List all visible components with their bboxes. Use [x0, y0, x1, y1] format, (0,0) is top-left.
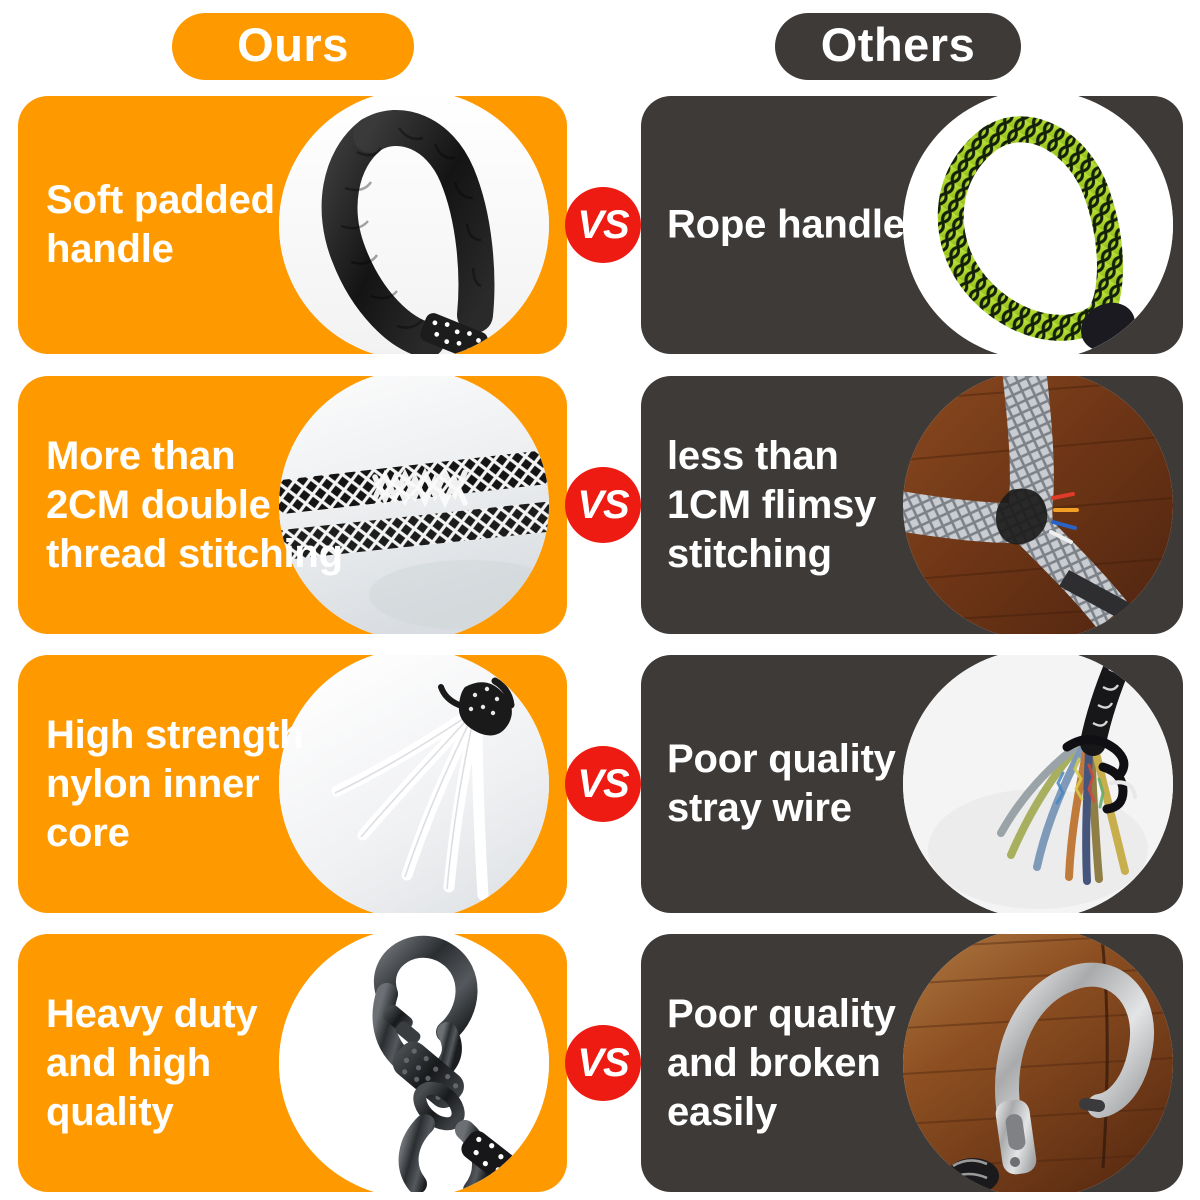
comparison-row: Heavy duty and high quality: [0, 934, 1200, 1192]
header-label-ours: Ours: [237, 21, 349, 68]
header-row: Ours Others: [0, 0, 1200, 92]
others-card-3: Poor quality stray wire: [641, 655, 1183, 913]
comparison-row: Soft padded handle: [0, 96, 1200, 354]
others-card-label-4: Poor quality and broken easily: [667, 990, 937, 1136]
comparison-infographic: Ours Others Soft padded handle: [0, 0, 1200, 1200]
vs-label: VS: [577, 203, 628, 248]
others-card-label-2: less than 1CM flimsy stitching: [667, 432, 937, 578]
ours-card-label-2: More than 2CM double thread stitching: [46, 432, 351, 578]
vs-badge-1: VS: [565, 187, 641, 263]
header-label-others: Others: [821, 21, 976, 68]
header-pill-others: Others: [775, 13, 1021, 80]
ours-card-label-1: Soft padded handle: [46, 176, 351, 274]
flimsy-stitching-photo: [903, 376, 1173, 634]
header-pill-ours: Ours: [172, 13, 414, 80]
ours-card-label-3: High strength nylon inner core: [46, 711, 351, 857]
ours-card-1: Soft padded handle: [18, 96, 567, 354]
ours-card-label-4: Heavy duty and high quality: [46, 990, 351, 1136]
ours-card-2: More than 2CM double thread stitching: [18, 376, 567, 634]
others-card-2: less than 1CM flimsy stitching: [641, 376, 1183, 634]
vs-label: VS: [577, 483, 628, 528]
comparison-rows: Soft padded handle: [0, 92, 1200, 1200]
broken-clip-photo: [903, 934, 1173, 1192]
comparison-row: More than 2CM double thread stitching: [0, 376, 1200, 634]
vs-badge-4: VS: [565, 1025, 641, 1101]
vs-label: VS: [577, 762, 628, 807]
ours-card-3: High strength nylon inner core: [18, 655, 567, 913]
others-card-label-1: Rope handle: [667, 201, 937, 250]
comparison-row: High strength nylon inner core: [0, 655, 1200, 913]
vs-badge-3: VS: [565, 746, 641, 822]
rope-handle-photo: [903, 96, 1173, 354]
vs-badge-2: VS: [565, 467, 641, 543]
ours-card-4: Heavy duty and high quality: [18, 934, 567, 1192]
stray-wire-photo: [903, 655, 1173, 913]
others-card-4: Poor quality and broken easily: [641, 934, 1183, 1192]
others-card-1: Rope handle: [641, 96, 1183, 354]
others-card-label-3: Poor quality stray wire: [667, 735, 937, 833]
vs-label: VS: [577, 1041, 628, 1086]
